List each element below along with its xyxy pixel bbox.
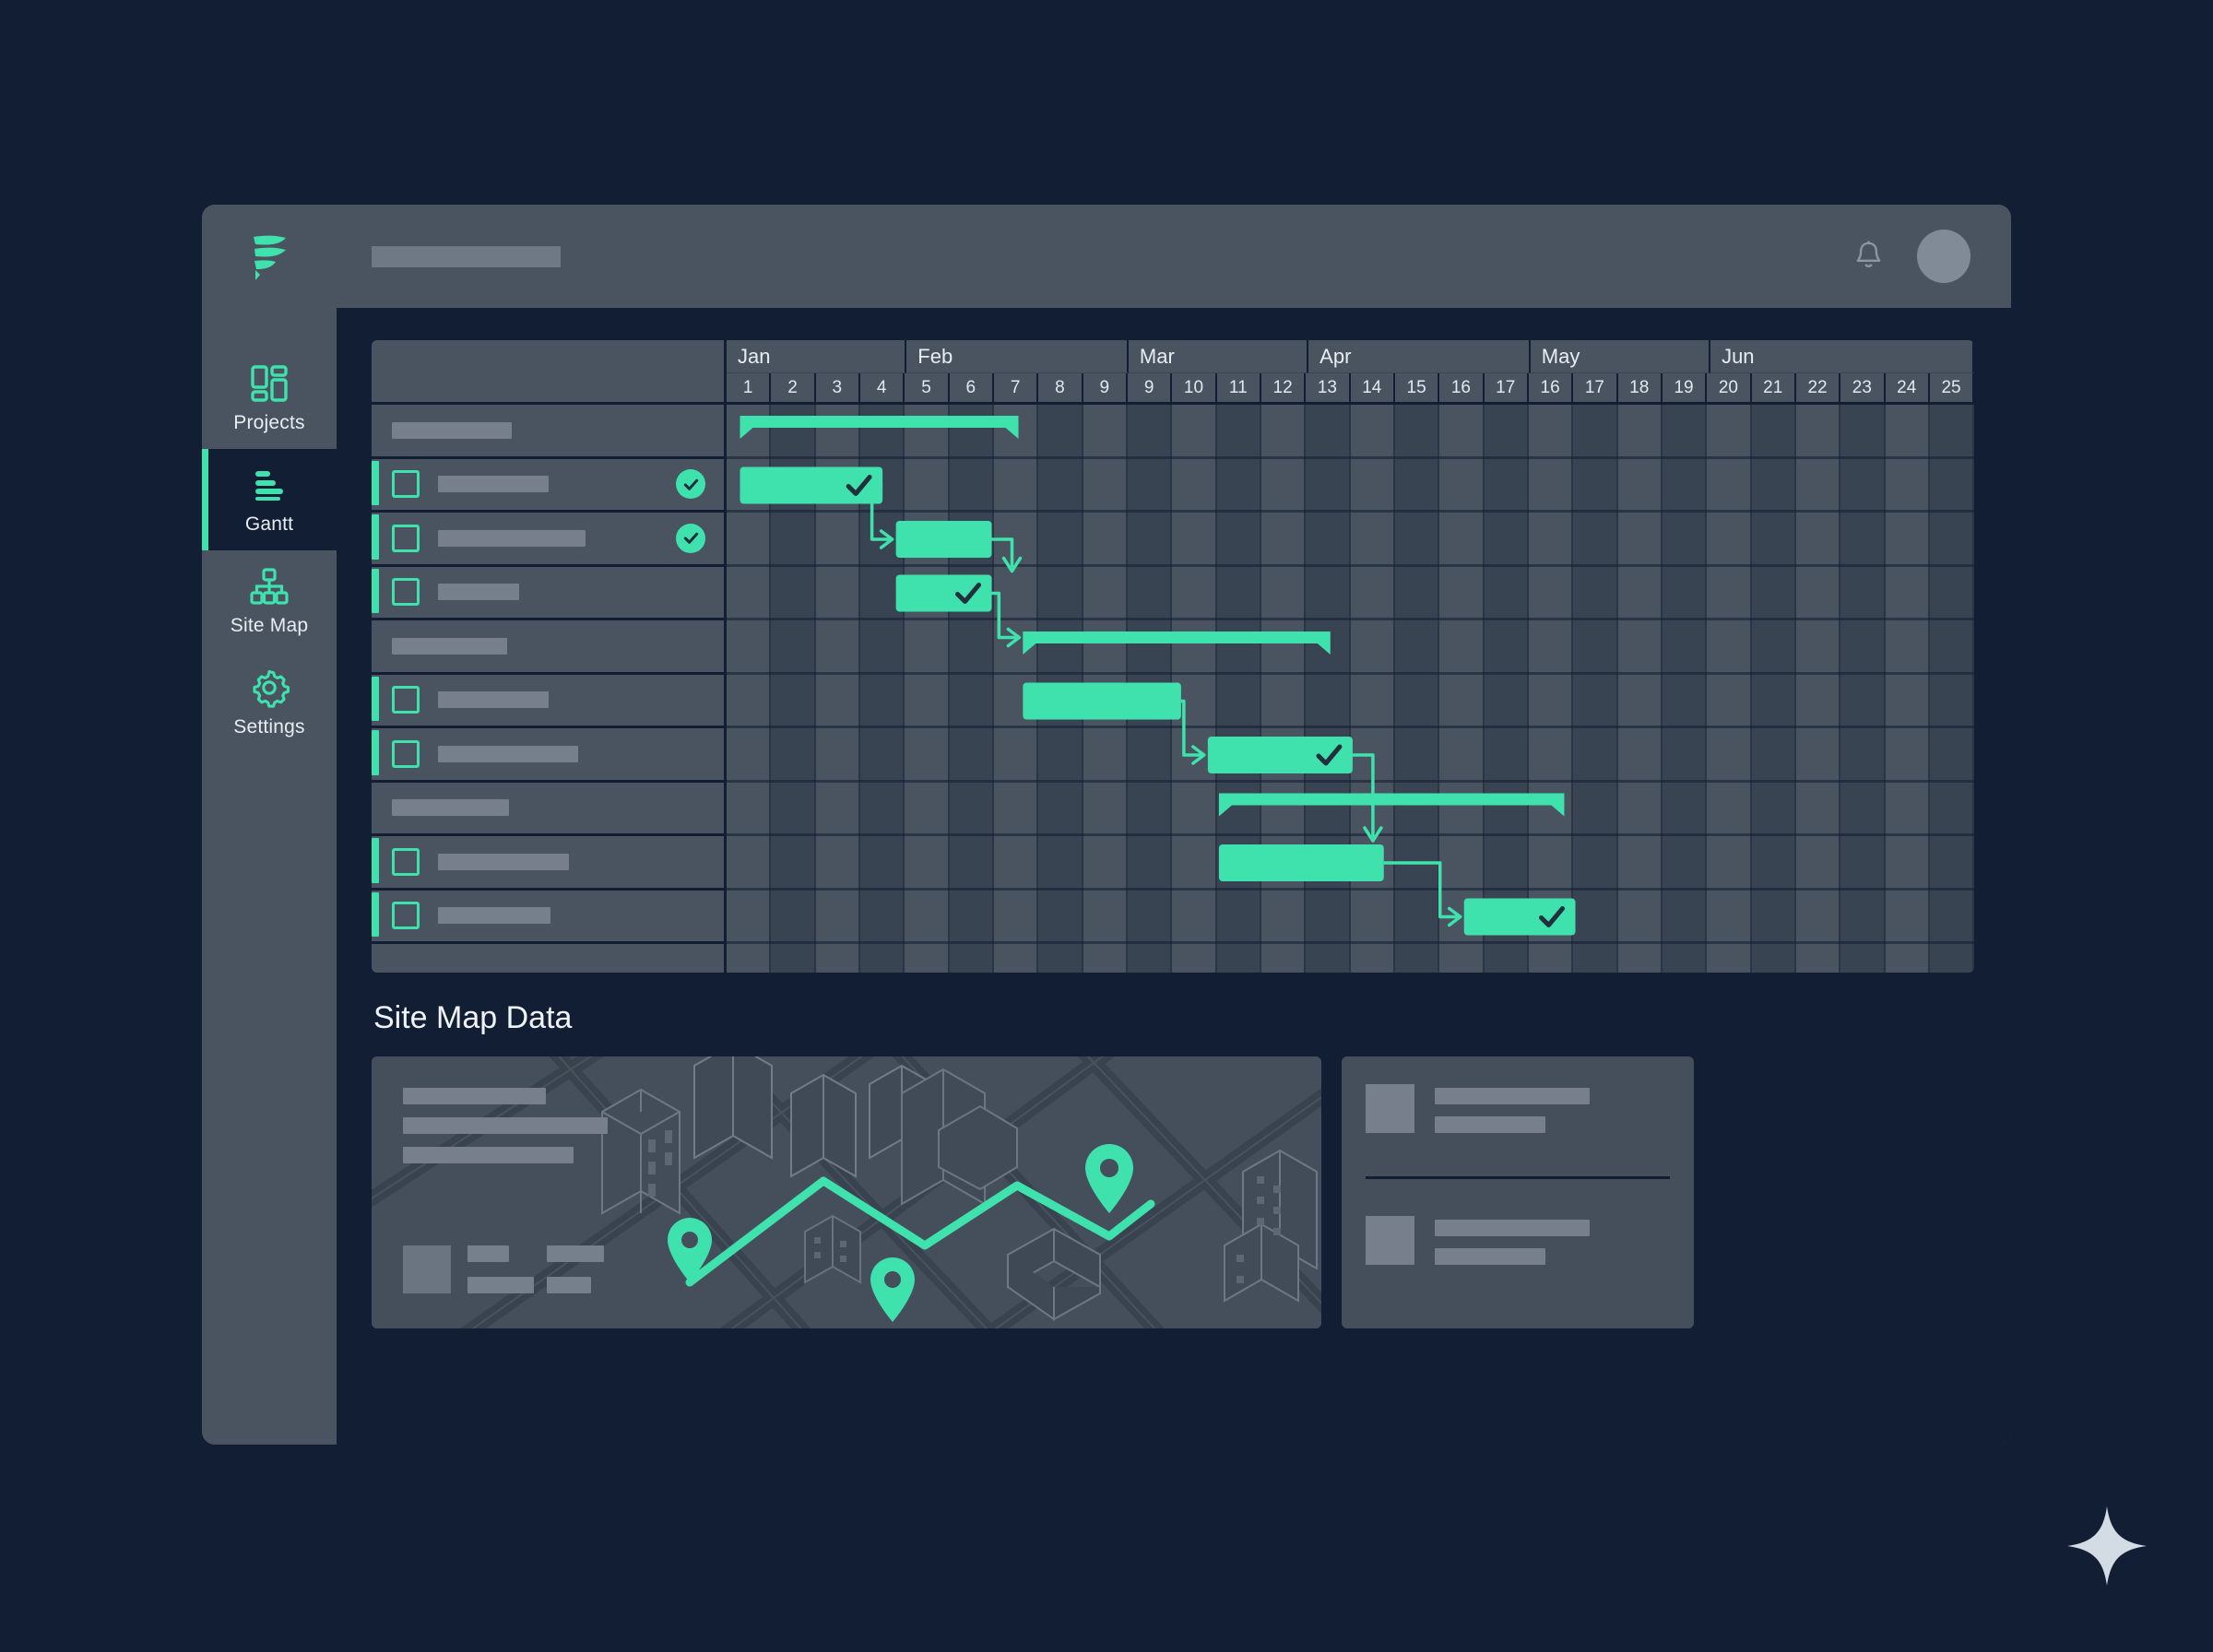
row-checkbox[interactable] [392, 578, 420, 606]
gantt-task-bar[interactable] [1464, 899, 1576, 936]
timeline-month-label: Jun [1710, 340, 1974, 373]
dependency-link [992, 594, 1018, 638]
task-group-row[interactable] [372, 405, 724, 459]
skeleton-line [547, 1245, 604, 1262]
skeleton-line [403, 1117, 608, 1134]
gantt-timeline: JanFebMarAprMayJun 123456789910111213141… [727, 340, 1974, 973]
sidebar-item-projects[interactable]: Projects [202, 348, 337, 449]
timeline-day-tick: 3 [816, 373, 860, 402]
main-content: JanFebMarAprMayJun 123456789910111213141… [337, 311, 2011, 1445]
timeline-month-label: Apr [1308, 340, 1531, 373]
row-checkbox[interactable] [392, 470, 420, 498]
row-checkbox[interactable] [392, 740, 420, 768]
avatar[interactable] [1917, 230, 1970, 283]
row-checkbox[interactable] [392, 686, 420, 714]
timeline-day-tick: 18 [1618, 373, 1663, 402]
timeline-day-tick: 10 [1172, 373, 1216, 402]
gantt-summary-bar[interactable] [1023, 631, 1330, 655]
gantt-bars-icon [249, 465, 290, 505]
bell-icon[interactable] [1851, 239, 1887, 275]
timeline-day-tick: 12 [1261, 373, 1306, 402]
map-thumbnail [403, 1245, 451, 1293]
sidebar-nav: Projects Gantt [202, 348, 337, 753]
sidebar-item-gantt[interactable]: Gantt [202, 449, 337, 550]
skeleton-line [467, 1277, 534, 1293]
sitemap-hierarchy-icon [249, 566, 290, 607]
table-row[interactable] [372, 459, 724, 513]
check-icon [682, 529, 700, 547]
info-card[interactable] [1342, 1056, 1694, 1328]
timeline-day-tick: 4 [860, 373, 905, 402]
timeline-day-tick: 7 [994, 373, 1038, 402]
row-label-placeholder [392, 799, 509, 816]
table-row[interactable] [372, 513, 724, 567]
sparkle-icon [2067, 1506, 2147, 1586]
gantt-task-bar[interactable] [1023, 683, 1181, 720]
timeline-month-label: Jan [727, 340, 906, 373]
sidebar: Projects Gantt [202, 205, 337, 1445]
timeline-day-header: 1234567899101112131415161716171819202122… [727, 373, 1974, 405]
screenshot-root: Projects Gantt [0, 0, 2213, 1652]
gantt-bars-layer [727, 405, 1974, 973]
skeleton-line [1435, 1116, 1545, 1133]
status-badge-complete [676, 469, 705, 499]
gantt-panel: JanFebMarAprMayJun 123456789910111213141… [372, 340, 1974, 973]
timeline-month-label: May [1531, 340, 1710, 373]
timeline-day-tick: 17 [1573, 373, 1617, 402]
gantt-task-bar[interactable] [896, 521, 992, 558]
task-list-header [372, 340, 724, 405]
flowline-logo-icon [244, 234, 294, 282]
row-label-placeholder [392, 638, 507, 655]
lower-section [372, 1056, 1976, 1328]
page-title-placeholder [372, 246, 561, 267]
row-label-placeholder [438, 476, 549, 492]
gantt-task-list [372, 340, 727, 973]
section-title: Site Map Data [373, 1000, 1976, 1036]
row-label-placeholder [438, 746, 578, 762]
sidebar-item-settings[interactable]: Settings [202, 652, 337, 753]
map-legend-placeholders [467, 1245, 534, 1293]
table-row[interactable] [372, 675, 724, 729]
gear-icon [249, 667, 290, 708]
skeleton-line [1435, 1088, 1590, 1104]
dependency-link [1384, 863, 1459, 917]
timeline-day-tick: 21 [1752, 373, 1796, 402]
top-bar [337, 205, 2011, 311]
row-label-placeholder [438, 584, 519, 600]
row-label-placeholder [438, 907, 550, 924]
row-checkbox[interactable] [392, 848, 420, 876]
row-checkbox[interactable] [392, 902, 420, 929]
site-map-card[interactable] [372, 1056, 1321, 1328]
gantt-task-bar[interactable] [896, 575, 992, 612]
app-window: Projects Gantt [202, 205, 2011, 1445]
timeline-day-tick: 17 [1485, 373, 1529, 402]
timeline-day-tick: 25 [1930, 373, 1974, 402]
map-legend-placeholders-2 [547, 1245, 604, 1293]
row-label-placeholder [392, 422, 512, 439]
timeline-month-header: JanFebMarAprMayJun [727, 340, 1974, 373]
task-group-row[interactable] [372, 783, 724, 837]
item-thumbnail [1366, 1216, 1414, 1265]
skeleton-line [1435, 1220, 1590, 1236]
gantt-task-bar[interactable] [1219, 844, 1384, 881]
sidebar-item-label: Projects [233, 412, 304, 434]
timeline-day-tick: 16 [1439, 373, 1484, 402]
timeline-day-tick: 20 [1707, 373, 1751, 402]
skeleton-line [403, 1088, 546, 1104]
sidebar-item-label: Settings [233, 716, 304, 738]
top-bar-actions [1851, 230, 1970, 283]
table-row[interactable] [372, 891, 724, 945]
timeline-day-tick: 8 [1038, 373, 1083, 402]
gantt-summary-bar[interactable] [740, 416, 1018, 439]
timeline-day-tick: 19 [1663, 373, 1707, 402]
timeline-day-tick: 9 [1083, 373, 1128, 402]
sidebar-item-label: Gantt [245, 513, 293, 536]
dependency-link [992, 539, 1012, 568]
table-row[interactable] [372, 836, 724, 891]
timeline-day-tick: 2 [771, 373, 815, 402]
gantt-summary-bar[interactable] [1219, 794, 1564, 817]
timeline-day-tick: 5 [905, 373, 949, 402]
item-thumbnail [1366, 1084, 1414, 1133]
timeline-day-tick: 6 [950, 373, 994, 402]
skeleton-line [1435, 1248, 1545, 1265]
timeline-day-tick: 15 [1395, 373, 1439, 402]
list-item[interactable] [1366, 1084, 1670, 1145]
status-badge-complete [676, 524, 705, 553]
sidebar-item-label: Site Map [231, 615, 308, 637]
timeline-day-tick: 11 [1217, 373, 1261, 402]
sidebar-item-site-map[interactable]: Site Map [202, 550, 337, 652]
timeline-day-tick: 1 [727, 373, 771, 402]
timeline-day-tick: 16 [1529, 373, 1573, 402]
timeline-day-tick: 23 [1840, 373, 1885, 402]
gantt-bars-svg [727, 405, 1974, 973]
table-row[interactable] [372, 728, 724, 783]
timeline-day-tick: 9 [1128, 373, 1172, 402]
check-icon [682, 476, 700, 493]
row-label-placeholder [438, 691, 549, 708]
item-text-placeholders [1435, 1216, 1590, 1277]
map-text-placeholders [403, 1088, 608, 1176]
row-checkbox[interactable] [392, 525, 420, 552]
row-label-placeholder [438, 854, 569, 870]
list-item[interactable] [1366, 1216, 1670, 1277]
grid-blocks-icon [249, 363, 290, 404]
task-group-row[interactable] [372, 620, 724, 675]
timeline-month-label: Mar [1129, 340, 1308, 373]
item-text-placeholders [1435, 1084, 1590, 1145]
divider [1366, 1176, 1670, 1179]
skeleton-line [403, 1147, 574, 1163]
skeleton-line [467, 1245, 509, 1262]
timeline-day-tick: 24 [1886, 373, 1930, 402]
table-row[interactable] [372, 567, 724, 621]
row-label-placeholder [438, 530, 586, 547]
skeleton-line [547, 1277, 591, 1293]
timeline-day-tick: 22 [1796, 373, 1840, 402]
timeline-month-label: Feb [906, 340, 1129, 373]
timeline-day-tick: 13 [1306, 373, 1350, 402]
timeline-day-tick: 14 [1351, 373, 1395, 402]
brand-logo[interactable] [202, 205, 337, 311]
